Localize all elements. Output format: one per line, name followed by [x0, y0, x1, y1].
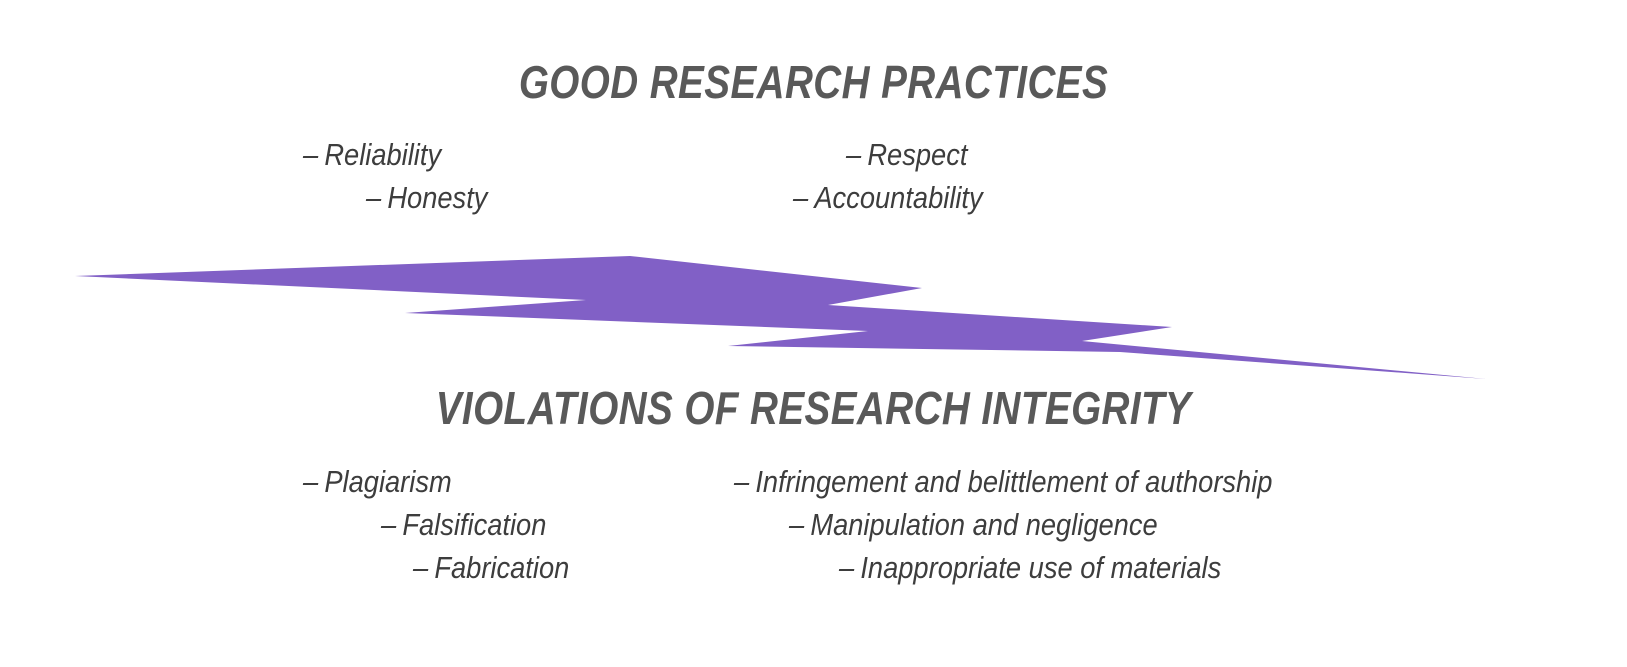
violations-left-column: –Plagiarism –Falsification –Fabrication — [303, 460, 591, 589]
list-item: –Reliability — [303, 133, 480, 176]
list-item-label: Fabrication — [434, 550, 569, 585]
slide-canvas: GOOD RESEARCH PRACTICES –Reliability –Ho… — [0, 0, 1627, 667]
list-item-label: Accountability — [814, 180, 982, 215]
en-dash-bullet-icon: – — [793, 180, 808, 215]
lightning-bolt-shape — [75, 256, 1486, 379]
en-dash-bullet-icon: – — [839, 550, 854, 585]
list-item: –Falsification — [381, 503, 565, 546]
list-item: –Infringement and belittlement of author… — [734, 460, 1272, 503]
good-practices-right-column: –Respect –Accountability — [793, 133, 1009, 219]
list-item-label: Falsification — [402, 507, 546, 542]
list-item-label: Respect — [867, 137, 967, 172]
en-dash-bullet-icon: – — [413, 550, 428, 585]
list-item: –Inappropriate use of materials — [839, 546, 1285, 589]
list-item-label: Inappropriate use of materials — [860, 550, 1221, 585]
list-item: –Manipulation and negligence — [789, 503, 1279, 546]
list-item-label: Manipulation and negligence — [810, 507, 1157, 542]
en-dash-bullet-icon: – — [789, 507, 804, 542]
list-item: –Honesty — [366, 176, 487, 219]
good-practices-left-column: –Reliability –Honesty — [303, 133, 504, 219]
violations-right-column: –Infringement and belittlement of author… — [734, 460, 1346, 589]
list-item: –Accountability — [793, 176, 983, 219]
list-item: –Respect — [846, 133, 989, 176]
en-dash-bullet-icon: – — [303, 464, 318, 499]
list-item-label: Reliability — [324, 137, 441, 172]
violations-heading: VIOLATIONS OF RESEARCH INTEGRITY — [130, 381, 1497, 435]
list-item-label: Honesty — [387, 180, 487, 215]
en-dash-bullet-icon: – — [846, 137, 861, 172]
en-dash-bullet-icon: – — [303, 137, 318, 172]
list-item: –Fabrication — [413, 546, 569, 589]
list-item-label: Plagiarism — [324, 464, 451, 499]
en-dash-bullet-icon: – — [366, 180, 381, 215]
en-dash-bullet-icon: – — [734, 464, 749, 499]
good-practices-heading: GOOD RESEARCH PRACTICES — [130, 55, 1497, 109]
list-item-label: Infringement and belittlement of authors… — [755, 464, 1272, 499]
en-dash-bullet-icon: – — [381, 507, 396, 542]
list-item: –Plagiarism — [303, 460, 556, 503]
